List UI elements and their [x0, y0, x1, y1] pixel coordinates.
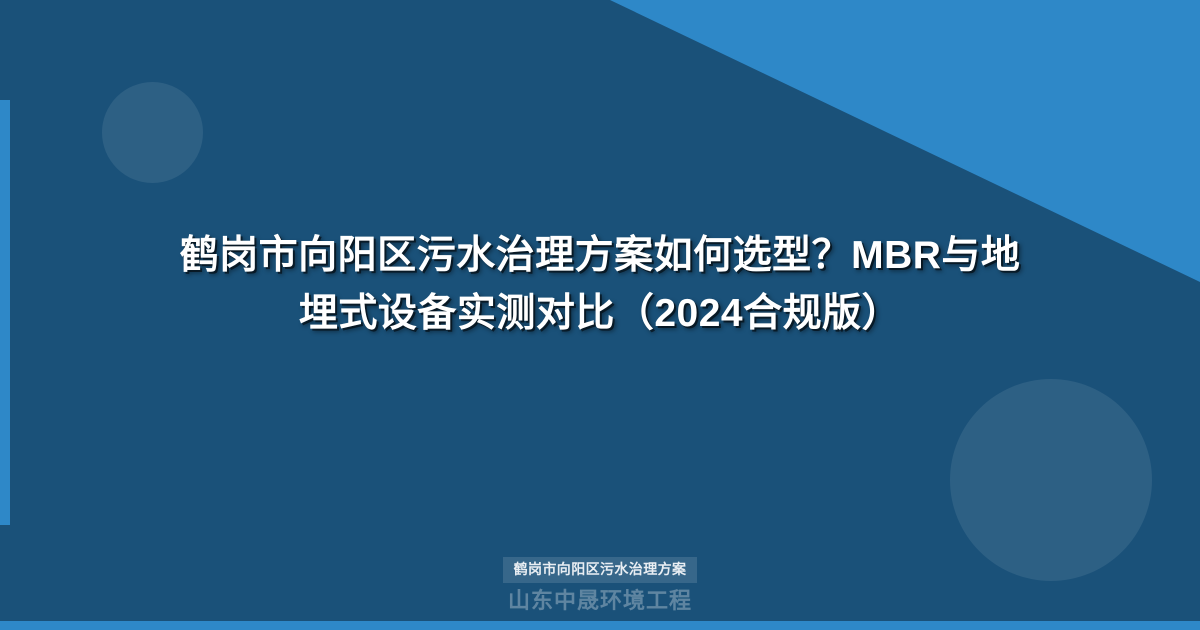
- poster-canvas: 鹤岗市向阳区污水治理方案如何选型？MBR与地埋式设备实测对比（2024合规版） …: [0, 0, 1200, 630]
- footer-topic-tag: 鹤岗市向阳区污水治理方案: [503, 557, 698, 583]
- footer-brand-watermark: 山东中晟环境工程: [508, 586, 692, 616]
- footer-block: 鹤岗市向阳区污水治理方案 山东中晟环境工程: [0, 557, 1200, 616]
- headline-block: 鹤岗市向阳区污水治理方案如何选型？MBR与地埋式设备实测对比（2024合规版）: [0, 0, 1200, 630]
- page-title: 鹤岗市向阳区污水治理方案如何选型？MBR与地埋式设备实测对比（2024合规版）: [160, 227, 1040, 343]
